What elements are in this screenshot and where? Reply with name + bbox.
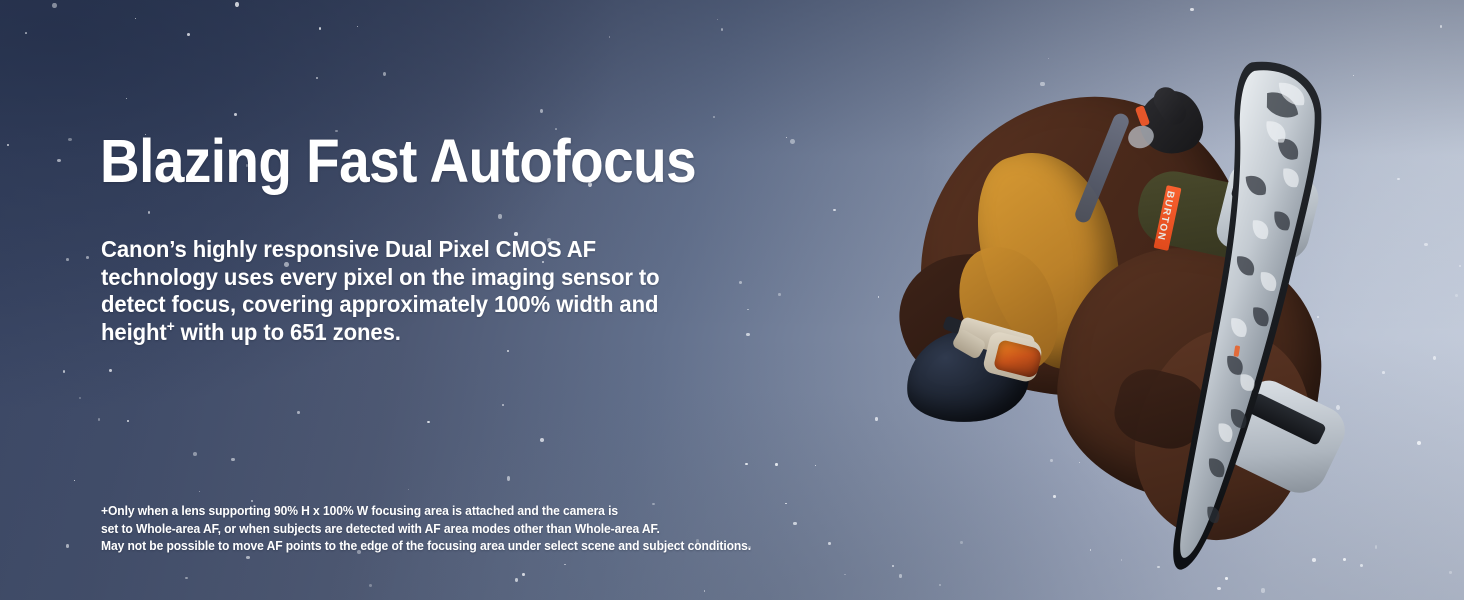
shoulder-strap	[1073, 111, 1131, 225]
snow-fleck	[1090, 549, 1091, 551]
snow-fleck	[955, 194, 960, 198]
snow-fleck	[1375, 545, 1378, 549]
snow-pants-hip	[1044, 233, 1336, 517]
knee-patch	[1108, 362, 1211, 455]
snow-fleck	[1110, 320, 1111, 321]
page-headline: Blazing Fast Autofocus	[100, 131, 696, 192]
snow-fleck	[1043, 381, 1045, 384]
snow-fleck	[66, 544, 69, 548]
snow-fleck	[960, 541, 963, 544]
snow-fleck	[1328, 460, 1331, 463]
snow-fleck	[1343, 558, 1346, 561]
snow-fleck	[1121, 559, 1122, 560]
snow-fleck	[68, 138, 72, 141]
snow-fleck	[939, 584, 941, 586]
snow-fleck	[57, 159, 61, 162]
snow-fleck	[1163, 485, 1167, 489]
snow-fleck	[1040, 82, 1044, 87]
snow-fleck	[79, 397, 81, 399]
snow-fleck	[1157, 566, 1159, 568]
snow-fleck	[1030, 170, 1033, 174]
snow-fleck	[25, 32, 27, 34]
autofocus-promo-banner: BURTON	[0, 0, 1464, 600]
snow-fleck	[1274, 102, 1275, 103]
snowboard	[1114, 47, 1371, 588]
snow-fleck	[86, 256, 90, 259]
burton-brand-text: BURTON	[1149, 189, 1176, 247]
snow-fleck	[1050, 459, 1053, 463]
snow-fleck	[1263, 342, 1265, 344]
snow-fleck	[1165, 131, 1168, 133]
snow-fleck	[1433, 356, 1436, 360]
snow-fleck	[1261, 588, 1266, 592]
footnote-line-1: +Only when a lens supporting 90% H x 100…	[101, 502, 873, 520]
af-bracket-corner-bottom-right	[996, 383, 1034, 421]
snow-fleck	[1010, 199, 1014, 202]
front-snowboard-boot	[1219, 374, 1353, 502]
body-paragraph: Canon’s highly responsive Dual Pixel CMO…	[101, 236, 703, 346]
snow-fleck	[1048, 58, 1049, 59]
snow-fleck	[1079, 462, 1080, 463]
snow-fleck	[1114, 186, 1118, 190]
snow-fleck	[1162, 347, 1165, 350]
snow-fleck	[892, 565, 894, 567]
snow-fleck	[1230, 479, 1232, 481]
snow-fleck	[7, 144, 9, 146]
snow-fleck	[1190, 8, 1194, 11]
snow-fleck	[1219, 275, 1223, 279]
snow-fleck	[1417, 441, 1421, 445]
snow-fleck	[1424, 243, 1428, 246]
snow-fleck	[1154, 118, 1156, 121]
snow-fleck	[786, 137, 787, 138]
snow-fleck	[875, 417, 879, 421]
snow-fleck	[1360, 564, 1363, 567]
footnote-line-2: set to Whole-area AF, or when subjects a…	[101, 520, 873, 538]
snow-fleck	[66, 258, 70, 262]
footnote-line-3: May not be possible to move AF points to…	[101, 537, 873, 555]
snow-fleck	[52, 3, 56, 9]
snow-fleck	[899, 574, 903, 578]
glove-cuff	[1125, 123, 1157, 152]
af-bracket-corner-top-left	[908, 295, 946, 333]
snow-fleck	[1449, 571, 1453, 574]
snow-fleck	[1217, 587, 1221, 590]
snow-fleck	[74, 480, 75, 481]
snow-fleck	[1353, 75, 1354, 76]
snow-fleck	[878, 296, 880, 298]
snow-fleck	[1282, 418, 1285, 421]
snow-pants-leg	[1112, 311, 1333, 560]
snow-fleck	[1300, 217, 1303, 219]
snow-fleck	[1133, 115, 1134, 116]
snow-fleck	[1264, 405, 1268, 409]
snow-fleck	[1190, 288, 1195, 294]
armband-orange-stripe	[1154, 185, 1182, 251]
snow-fleck	[1076, 397, 1079, 401]
snow-fleck	[1013, 221, 1015, 222]
snow-fleck	[1053, 495, 1056, 498]
snow-fleck	[1255, 67, 1259, 71]
snow-fleck	[844, 574, 846, 576]
front-binding-strap	[1247, 392, 1327, 446]
snow-fleck	[790, 139, 795, 144]
snow-fleck	[63, 370, 65, 373]
glove-fingers	[1149, 83, 1191, 130]
snow-fleck	[1459, 265, 1461, 267]
glove-red-accent	[1135, 105, 1150, 127]
rear-binding-strap	[1231, 178, 1304, 214]
snow-fleck	[1075, 206, 1077, 208]
snow-fleck	[1032, 172, 1036, 176]
snow-fleck	[1455, 294, 1458, 297]
snow-fleck	[1130, 483, 1132, 485]
snow-fleck	[1310, 105, 1314, 109]
forearm-glove	[1132, 165, 1277, 265]
snow-fleck	[1097, 464, 1100, 467]
af-focus-bracket	[908, 295, 1034, 421]
snow-fleck	[1397, 178, 1400, 181]
snow-fleck	[1114, 156, 1116, 158]
af-bracket-corner-bottom-left	[908, 383, 946, 421]
body-text-tail: with up to 651 zones.	[175, 319, 401, 345]
glove-mitt	[1132, 84, 1210, 162]
snow-fleck	[1317, 316, 1319, 318]
snow-fleck	[833, 209, 836, 211]
snow-fleck	[1272, 307, 1273, 308]
snow-fleck	[1194, 464, 1198, 469]
snow-fleck	[1225, 577, 1228, 580]
footnote-block: +Only when a lens supporting 90% H x 100…	[101, 502, 873, 555]
snow-fleck	[815, 465, 816, 466]
snow-fleck	[1167, 488, 1170, 490]
snow-fleck	[1336, 405, 1340, 410]
copy-block: Blazing Fast Autofocus Canon’s highly re…	[100, 0, 780, 600]
snow-fleck	[1014, 243, 1016, 244]
snow-fleck	[1312, 558, 1316, 562]
snow-fleck	[1103, 398, 1104, 399]
snow-fleck	[957, 182, 958, 184]
af-bracket-corner-top-right	[996, 295, 1034, 333]
snow-fleck	[1440, 25, 1442, 28]
snow-fleck	[1382, 371, 1386, 374]
rear-snowboard-boot	[1213, 160, 1323, 266]
